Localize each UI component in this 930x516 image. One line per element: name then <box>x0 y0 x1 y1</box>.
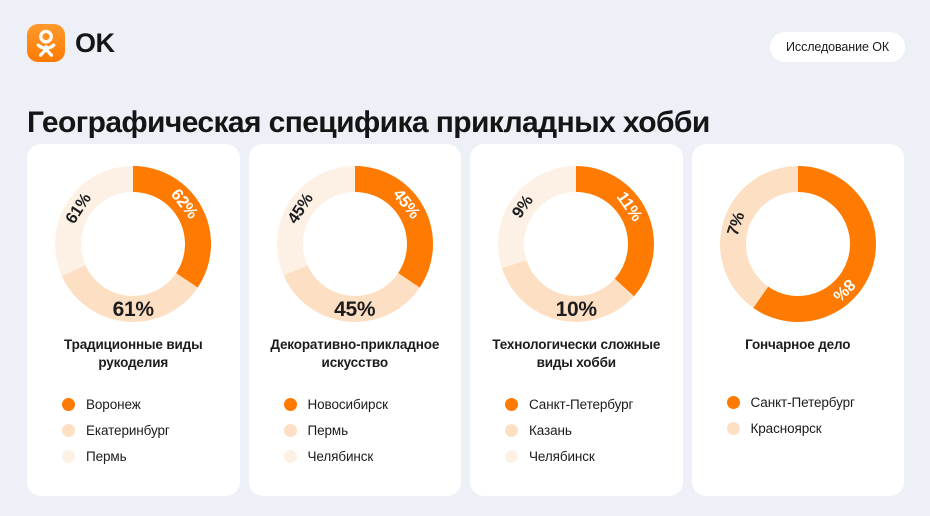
metric-card: 11%9%10%Технологически сложные виды хобб… <box>470 144 683 496</box>
donut-segment[interactable] <box>576 166 654 296</box>
legend-color-dot-icon <box>284 398 297 411</box>
legend-item-label: Пермь <box>308 423 349 438</box>
legend-color-dot-icon <box>505 450 518 463</box>
legend-item-label: Челябинск <box>308 449 374 464</box>
legend-item-label: Пермь <box>86 449 127 464</box>
legend: Санкт-ПетербургКрасноярск <box>702 395 895 484</box>
legend-item[interactable]: Новосибирск <box>284 397 452 412</box>
legend-item-label: Новосибирск <box>308 397 388 412</box>
legend-item-label: Красноярск <box>751 421 822 436</box>
legend-item-label: Челябинск <box>529 449 595 464</box>
legend-color-dot-icon <box>284 450 297 463</box>
card-title: Технологически сложные виды хобби <box>480 336 673 372</box>
card-title: Гончарное дело <box>745 336 850 354</box>
legend-item-label: Санкт-Петербург <box>529 397 633 412</box>
legend: НовосибирскПермьЧелябинск <box>259 397 452 484</box>
legend-color-dot-icon <box>505 398 518 411</box>
card-title: Традиционные виды рукоделия <box>37 336 230 372</box>
page-header: OK Исследование ОК <box>0 0 930 78</box>
donut-segment[interactable] <box>720 166 798 308</box>
legend-color-dot-icon <box>62 450 75 463</box>
donut-bottom-value <box>795 298 801 322</box>
donut-bottom-value: 45% <box>334 298 375 322</box>
study-badge-label: Исследование ОК <box>786 40 889 54</box>
legend-item[interactable]: Екатеринбург <box>62 423 230 438</box>
card-grid: 62%61%61%Традиционные виды рукоделияВоро… <box>27 144 904 496</box>
legend-item[interactable]: Казань <box>505 423 673 438</box>
page-title: Географическая специфика прикладных хобб… <box>27 106 710 141</box>
metric-card: 45%45%45%Декоративно-прикладное искусств… <box>249 144 462 496</box>
donut-bottom-value: 10% <box>556 298 597 322</box>
legend-color-dot-icon <box>727 396 740 409</box>
legend-item[interactable]: Пермь <box>62 449 230 464</box>
legend-item[interactable]: Пермь <box>284 423 452 438</box>
infographic-page: OK Исследование ОК Географическая специф… <box>0 0 930 516</box>
legend-color-dot-icon <box>62 398 75 411</box>
brand-name: OK <box>75 30 115 57</box>
legend-item-label: Екатеринбург <box>86 423 170 438</box>
legend-item-label: Санкт-Петербург <box>751 395 855 410</box>
card-title: Декоративно-прикладное искусство <box>259 336 452 372</box>
study-badge[interactable]: Исследование ОК <box>770 32 905 62</box>
legend-item[interactable]: Санкт-Петербург <box>505 397 673 412</box>
legend-item[interactable]: Красноярск <box>727 421 895 436</box>
legend-item[interactable]: Челябинск <box>505 449 673 464</box>
metric-card: 8%7% Гончарное делоСанкт-ПетербургКрасно… <box>692 144 905 496</box>
donut-bottom-value: 61% <box>113 298 154 322</box>
legend-item[interactable]: Санкт-Петербург <box>727 395 895 410</box>
legend-item[interactable]: Челябинск <box>284 449 452 464</box>
legend-item-label: Казань <box>529 423 572 438</box>
legend: Санкт-ПетербургКазаньЧелябинск <box>480 397 673 484</box>
ok-brand[interactable]: OK <box>27 24 115 62</box>
donut-segment[interactable] <box>498 166 576 268</box>
legend-item-label: Воронеж <box>86 397 141 412</box>
donut-segment[interactable] <box>133 166 211 288</box>
legend-color-dot-icon <box>284 424 297 437</box>
legend-color-dot-icon <box>62 424 75 437</box>
legend-color-dot-icon <box>727 422 740 435</box>
legend: ВоронежЕкатеринбургПермь <box>37 397 230 484</box>
metric-card: 62%61%61%Традиционные виды рукоделияВоро… <box>27 144 240 496</box>
legend-item[interactable]: Воронеж <box>62 397 230 412</box>
ok-logo-icon <box>27 24 65 62</box>
donut-segment[interactable] <box>355 166 433 288</box>
legend-color-dot-icon <box>505 424 518 437</box>
